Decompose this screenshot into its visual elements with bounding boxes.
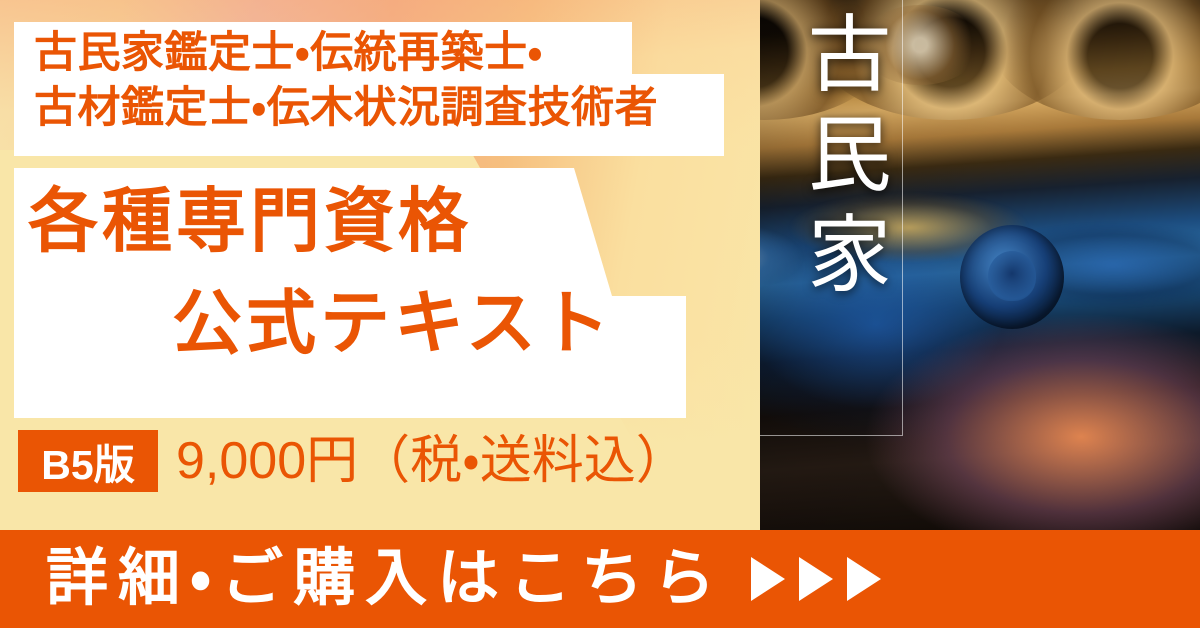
headline-text: 古民家鑑定士・伝統再築士・ 古材鑑定士・伝木状況調査技術者 — [34, 26, 734, 136]
title-line-1: 各種専門資格 — [28, 186, 472, 256]
play-triangle-icon — [847, 557, 881, 601]
cta-label: 詳細・ご購入はこちら — [46, 548, 725, 610]
format-badge: B5版 — [18, 430, 158, 492]
cta-bar[interactable]: 詳細・ご購入はこちら — [0, 530, 1200, 628]
headline-line-1: 古民家鑑定士・伝統再築士・ — [34, 26, 734, 81]
book-cover-title: 古民家 — [752, 10, 892, 310]
play-triangle-icon — [799, 557, 833, 601]
title-line-2: 公式テキスト — [172, 288, 614, 358]
play-triangle-icon — [751, 557, 785, 601]
headline-line-2: 古材鑑定士・伝木状況調査技術者 — [34, 81, 734, 136]
promo-banner: 伝統構法、古民家活用のための調査と再生の 古民家 古民家鑑定士・伝統再築士・ 古… — [0, 0, 1200, 628]
cta-arrows — [751, 557, 881, 601]
price-text: 9,000円（税・送料込） — [176, 428, 688, 494]
